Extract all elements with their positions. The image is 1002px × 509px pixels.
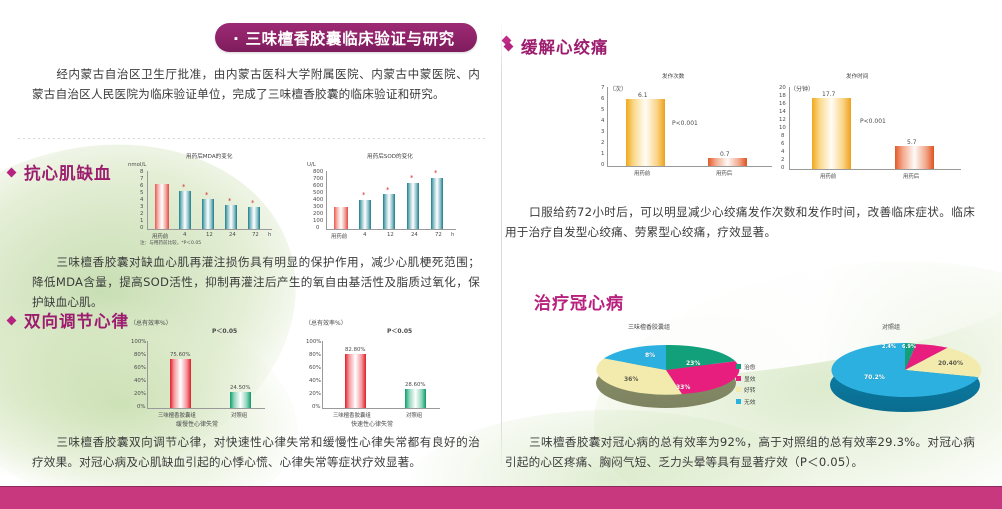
summary-anti-ischemia: 三味檀香胶囊对缺血心肌再灌注损伤具有明显的保护作用，减少心肌梗死范围；降低MDA…	[32, 252, 480, 312]
bar-mda-0	[155, 184, 169, 229]
bar-mda-2	[202, 199, 214, 229]
chart-tachyarrhythmia: （总有效率%） P＜0.05 100% 80% 60% 40% 20% 0% 8…	[305, 318, 445, 413]
bar-attack-duration-0	[812, 98, 851, 169]
y-axis	[607, 87, 608, 166]
y-axis	[147, 171, 148, 229]
bar-mda-1	[179, 191, 191, 229]
y-axis	[789, 87, 790, 169]
x-axis	[326, 229, 456, 230]
bar-tachy-1	[405, 389, 426, 408]
diamond-bullet-icon	[7, 167, 17, 177]
dotted-divider-top	[18, 138, 488, 139]
section-heading-anti-ischemia: 抗心肌缺血	[8, 160, 112, 184]
x-axis	[322, 408, 440, 409]
bar-mda-4	[248, 207, 260, 229]
page-title: · 三味檀香胶囊临床验证与研究	[233, 27, 455, 49]
diamond-bullet-icon	[7, 315, 17, 325]
bar-brady-1	[230, 392, 251, 408]
bar-sod-0	[334, 207, 348, 229]
bar-sod-4	[431, 178, 443, 229]
bar-tachy-0	[345, 354, 366, 408]
bar-sod-3	[407, 183, 419, 229]
diamond-bullet-icon	[504, 41, 514, 51]
legend-swatch-improved	[736, 387, 741, 392]
center-divider	[501, 18, 502, 473]
y-axis	[322, 341, 323, 408]
chart-mda: 用药后MDA的变化 nmol/L 8 7 6 5 4 3 2 1 0 * * *…	[128, 152, 278, 234]
legend-item-marked: 显效	[736, 374, 756, 383]
chart-sod: 用药后SOD的变化 U/L 800 700 600 500 400 300 20…	[305, 152, 465, 234]
bar-sod-1	[359, 200, 371, 229]
chart-attack-duration: 发作时间 20 18 16 14 12 10 8 6 4 2 0 （分钟） 17…	[778, 72, 978, 182]
chart-pie-control-group: 对照组 2.4% 6.9% 20.40% 70.2%	[820, 322, 1000, 422]
bar-mda-3	[225, 205, 237, 229]
bar-sod-2	[383, 194, 395, 229]
y-axis	[326, 171, 327, 229]
bar-attack-count-1	[708, 158, 747, 166]
section-heading-chd: 治疗冠心病	[534, 289, 624, 314]
x-axis	[147, 408, 265, 409]
bar-brady-0	[170, 359, 191, 408]
chart-pie-treatment-group: 三味檀香胶囊组 23% 33% 36% 8% 治愈	[588, 322, 768, 422]
legend-swatch-ineffective	[736, 399, 741, 404]
summary-chd: 三味檀香胶囊对冠心病的总有效率为92%，高于对照组的总有效率29.3%。对冠心病…	[505, 432, 975, 472]
section-heading-rhythm: 双向调节心律	[8, 308, 129, 332]
section-heading-angina: 缓解心绞痛	[505, 34, 609, 58]
bar-attack-count-0	[626, 99, 665, 166]
legend-item-cure: 治愈	[736, 362, 756, 371]
chart-bradyarrhythmia: （总有效率%） P＜0.05 100% 80% 60% 40% 20% 0% 7…	[130, 318, 270, 413]
legend-swatch-marked	[736, 376, 741, 381]
pie-legend: 治愈 显效 好转 无效	[736, 362, 756, 408]
page-title-banner: · 三味檀香胶囊临床验证与研究	[215, 23, 477, 52]
bar-attack-duration-1	[895, 146, 934, 169]
chart-attack-count: 发作次数 7 6 5 4 3 2 1 0 （次） 6.1 0.7 用药前 用药后…	[600, 72, 790, 182]
summary-angina: 口服给药72小时后，可以明显减少心绞痛发作次数和发作时间，改善临床症状。临床用于…	[505, 202, 975, 242]
legend-swatch-cure	[736, 364, 741, 369]
summary-rhythm: 三味檀香胶囊双向调节心律，对快速性心律失常和缓慢性心律失常都有良好的治疗效果。对…	[32, 432, 480, 472]
legend-item-ineffective: 无效	[736, 397, 756, 406]
bottom-color-bar	[0, 487, 1002, 509]
legend-item-improved: 好转	[736, 385, 756, 394]
x-axis	[789, 169, 961, 170]
x-axis	[607, 166, 772, 167]
intro-paragraph: 经内蒙古自治区卫生厅批准，由内蒙古医科大学附属医院、内蒙古中蒙医院、内蒙古自治区…	[32, 64, 480, 104]
brochure-page: · 三味檀香胶囊临床验证与研究 经内蒙古自治区卫生厅批准，由内蒙古医科大学附属医…	[0, 0, 1002, 509]
x-axis	[147, 229, 272, 230]
y-axis	[147, 341, 148, 408]
